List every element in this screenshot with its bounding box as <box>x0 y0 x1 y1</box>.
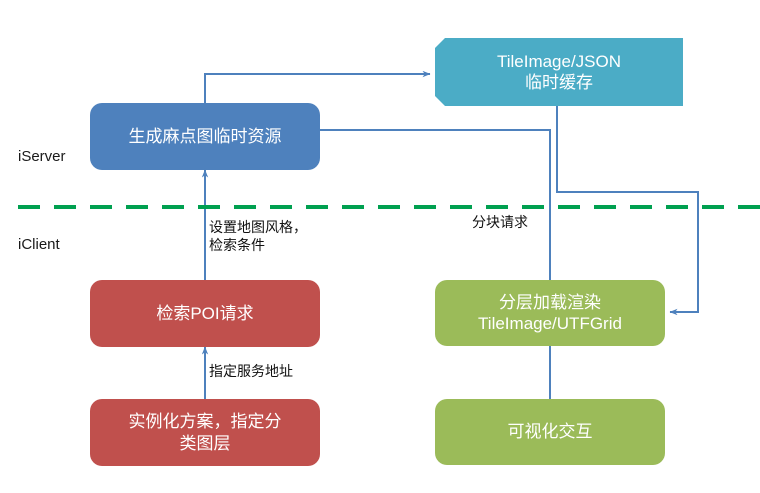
node-search-poi-request[interactable]: 检索POI请求 <box>90 280 320 347</box>
connector-generate-to-cache <box>205 74 430 103</box>
node-visual-interaction-label: 可视化交互 <box>508 421 593 442</box>
node-generate-temp-resource-label: 生成麻点图临时资源 <box>129 126 282 147</box>
node-search-poi-request-label: 检索POI请求 <box>156 303 253 324</box>
node-tile-cache-label: TileImage/JSON 临时缓存 <box>497 51 621 94</box>
node-instantiate-scheme-label: 实例化方案，指定分 类图层 <box>129 411 282 454</box>
edge-label-map-style: 设置地图风格， 检索条件 <box>209 218 307 254</box>
node-tile-cache[interactable]: TileImage/JSON 临时缓存 <box>435 38 683 106</box>
node-visual-interaction[interactable]: 可视化交互 <box>435 399 665 465</box>
diagram-canvas: iServer iClient TileImage/JSON 临时缓存 生成麻点… <box>0 0 760 493</box>
iserver-zone-label: iServer <box>18 148 66 165</box>
edge-label-tile-request: 分块请求 <box>472 213 528 231</box>
node-layered-render[interactable]: 分层加载渲染 TileImage/UTFGrid <box>435 280 665 346</box>
node-generate-temp-resource[interactable]: 生成麻点图临时资源 <box>90 103 320 170</box>
iclient-zone-label: iClient <box>18 236 60 253</box>
node-instantiate-scheme[interactable]: 实例化方案，指定分 类图层 <box>90 399 320 466</box>
edge-label-service-address: 指定服务地址 <box>209 362 293 380</box>
node-layered-render-label: 分层加载渲染 TileImage/UTFGrid <box>478 292 622 335</box>
